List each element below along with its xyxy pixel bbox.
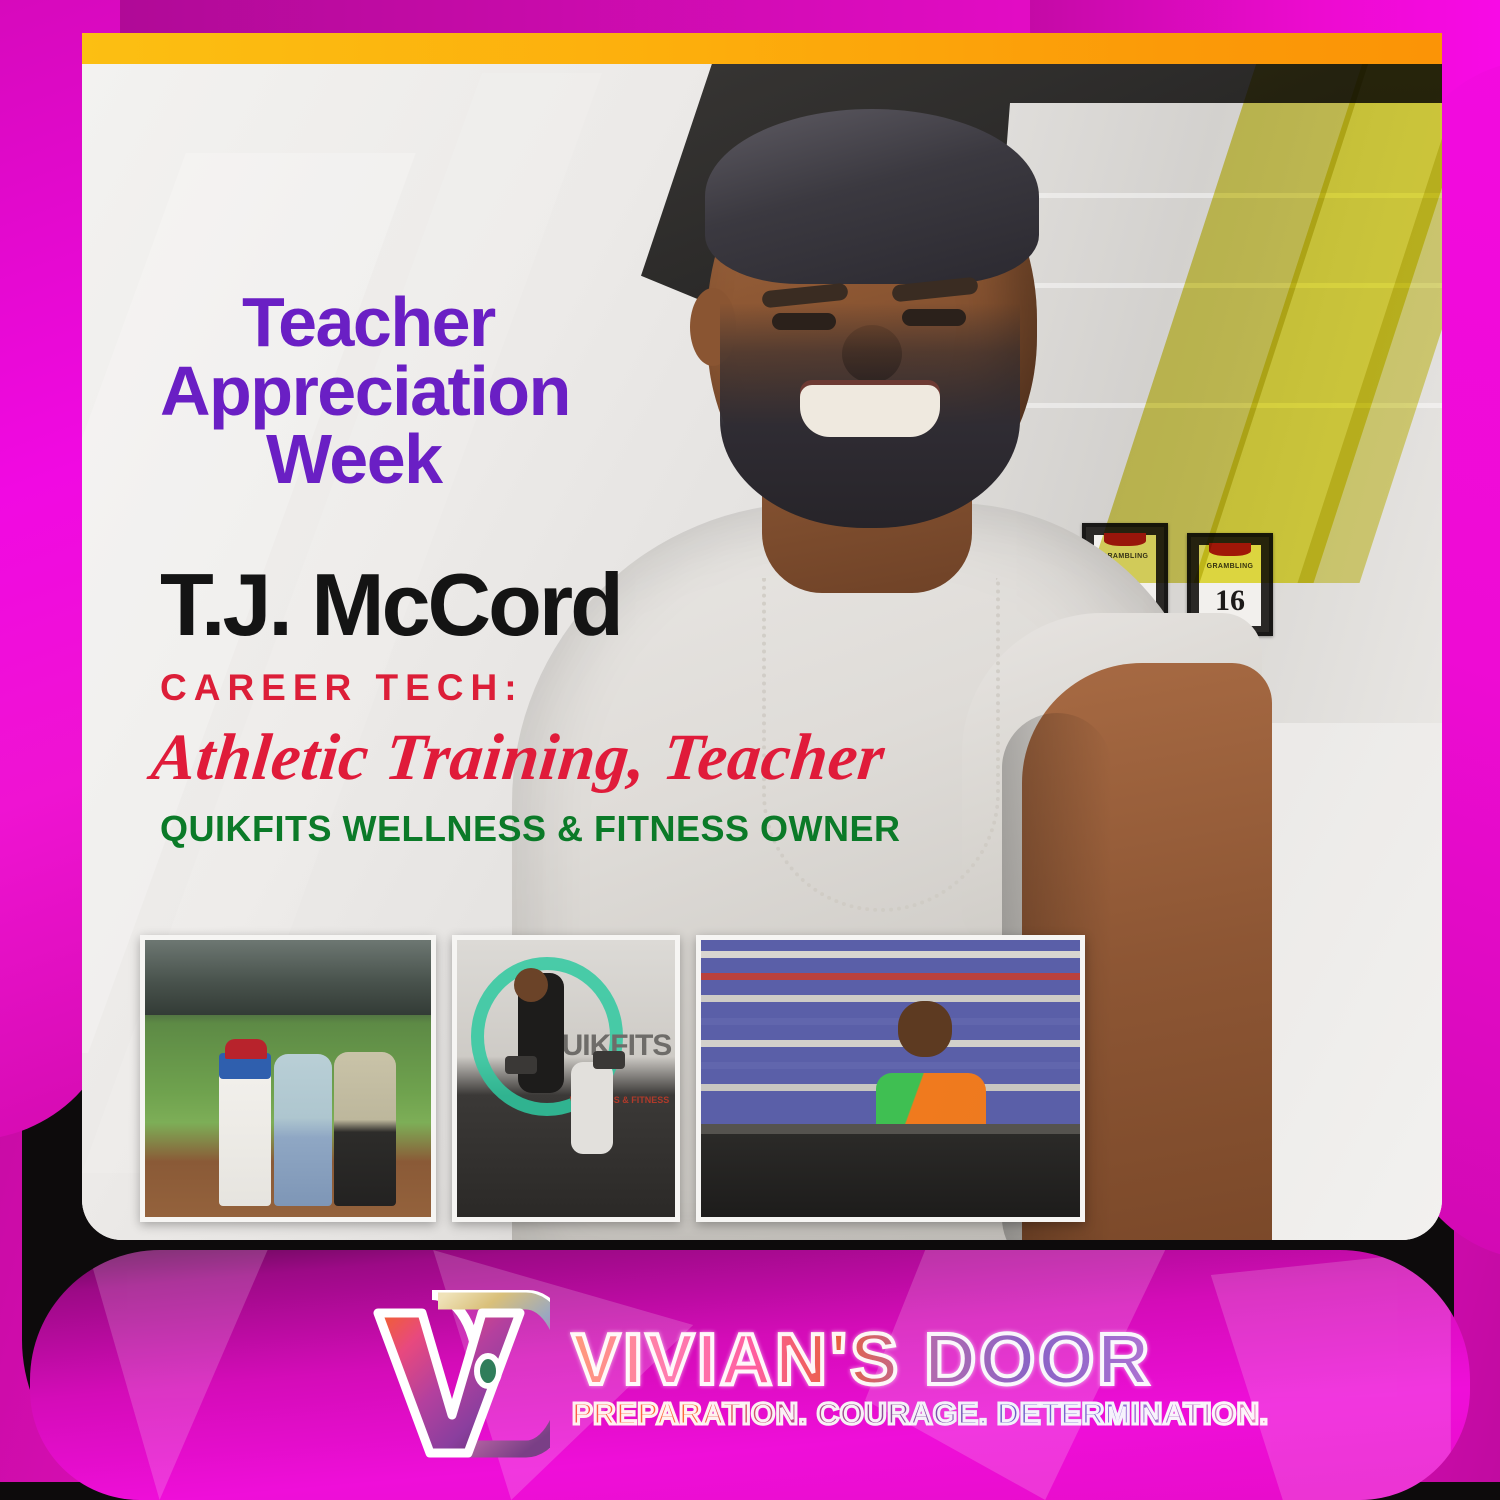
page-title: Teacher Appreciation Week [242,288,802,494]
bleacher-row [701,973,1080,980]
dumbbell [593,1051,625,1069]
role-script: Athletic Training, Teacher [149,725,888,791]
headline-block: Teacher Appreciation Week [242,288,802,494]
stadium-fence-photo[interactable] [696,935,1085,1222]
brand-name: VIVIAN'S DOOR [572,1324,1269,1396]
vd-monogram-icon [360,1287,550,1462]
hair [705,109,1039,284]
headline-line-3: Week [266,425,802,494]
bleacher-row [701,951,1080,958]
magenta-top-left-bar [0,0,1060,36]
headline-line-1: Teacher [242,288,802,357]
baseball-field-photo[interactable] [140,935,436,1222]
eye [902,309,966,326]
bleacher-row [701,995,1080,1002]
chain-link-fence [701,1134,1080,1217]
stadium-stands [145,940,431,1015]
bleacher-row [701,1018,1080,1025]
honoree-name: T.J. McCord [160,561,621,649]
trainer-head [514,968,548,1002]
footer-logo-area: VIVIAN'S DOOR PREPARATION. COURAGE. DETE… [0,1250,1500,1500]
smile [800,385,940,437]
nose [842,325,902,383]
poster-canvas: GRAMBLING 16 GRAMBLING 16 [0,0,1500,1500]
baseball-cap [225,1039,267,1059]
career-label: CAREER TECH: [160,669,524,706]
photo-strip: QUIKFITS WELLNESS & FITNESS [140,935,1085,1220]
brand-logo[interactable]: VIVIAN'S DOOR PREPARATION. COURAGE. DETE… [360,1287,1269,1462]
gym-training-photo[interactable]: QUIKFITS WELLNESS & FITNESS [452,935,680,1222]
business-label: QUIKFITS WELLNESS & FITNESS OWNER [160,811,901,847]
content-card: GRAMBLING 16 GRAMBLING 16 [82,33,1442,1240]
brand-text: VIVIAN'S DOOR PREPARATION. COURAGE. DETE… [572,1320,1269,1429]
dumbbell [505,1056,537,1074]
subject-head [898,1001,952,1057]
bleacher-row [701,1062,1080,1069]
orange-accent-bar [82,33,1442,64]
person-center [274,1054,332,1206]
headline-line-2: Appreciation [160,357,802,426]
bleacher-row [701,1040,1080,1047]
person-right [334,1052,396,1206]
brand-tagline: PREPARATION. COURAGE. DETERMINATION. [572,1398,1269,1429]
client-figure [571,1062,613,1154]
